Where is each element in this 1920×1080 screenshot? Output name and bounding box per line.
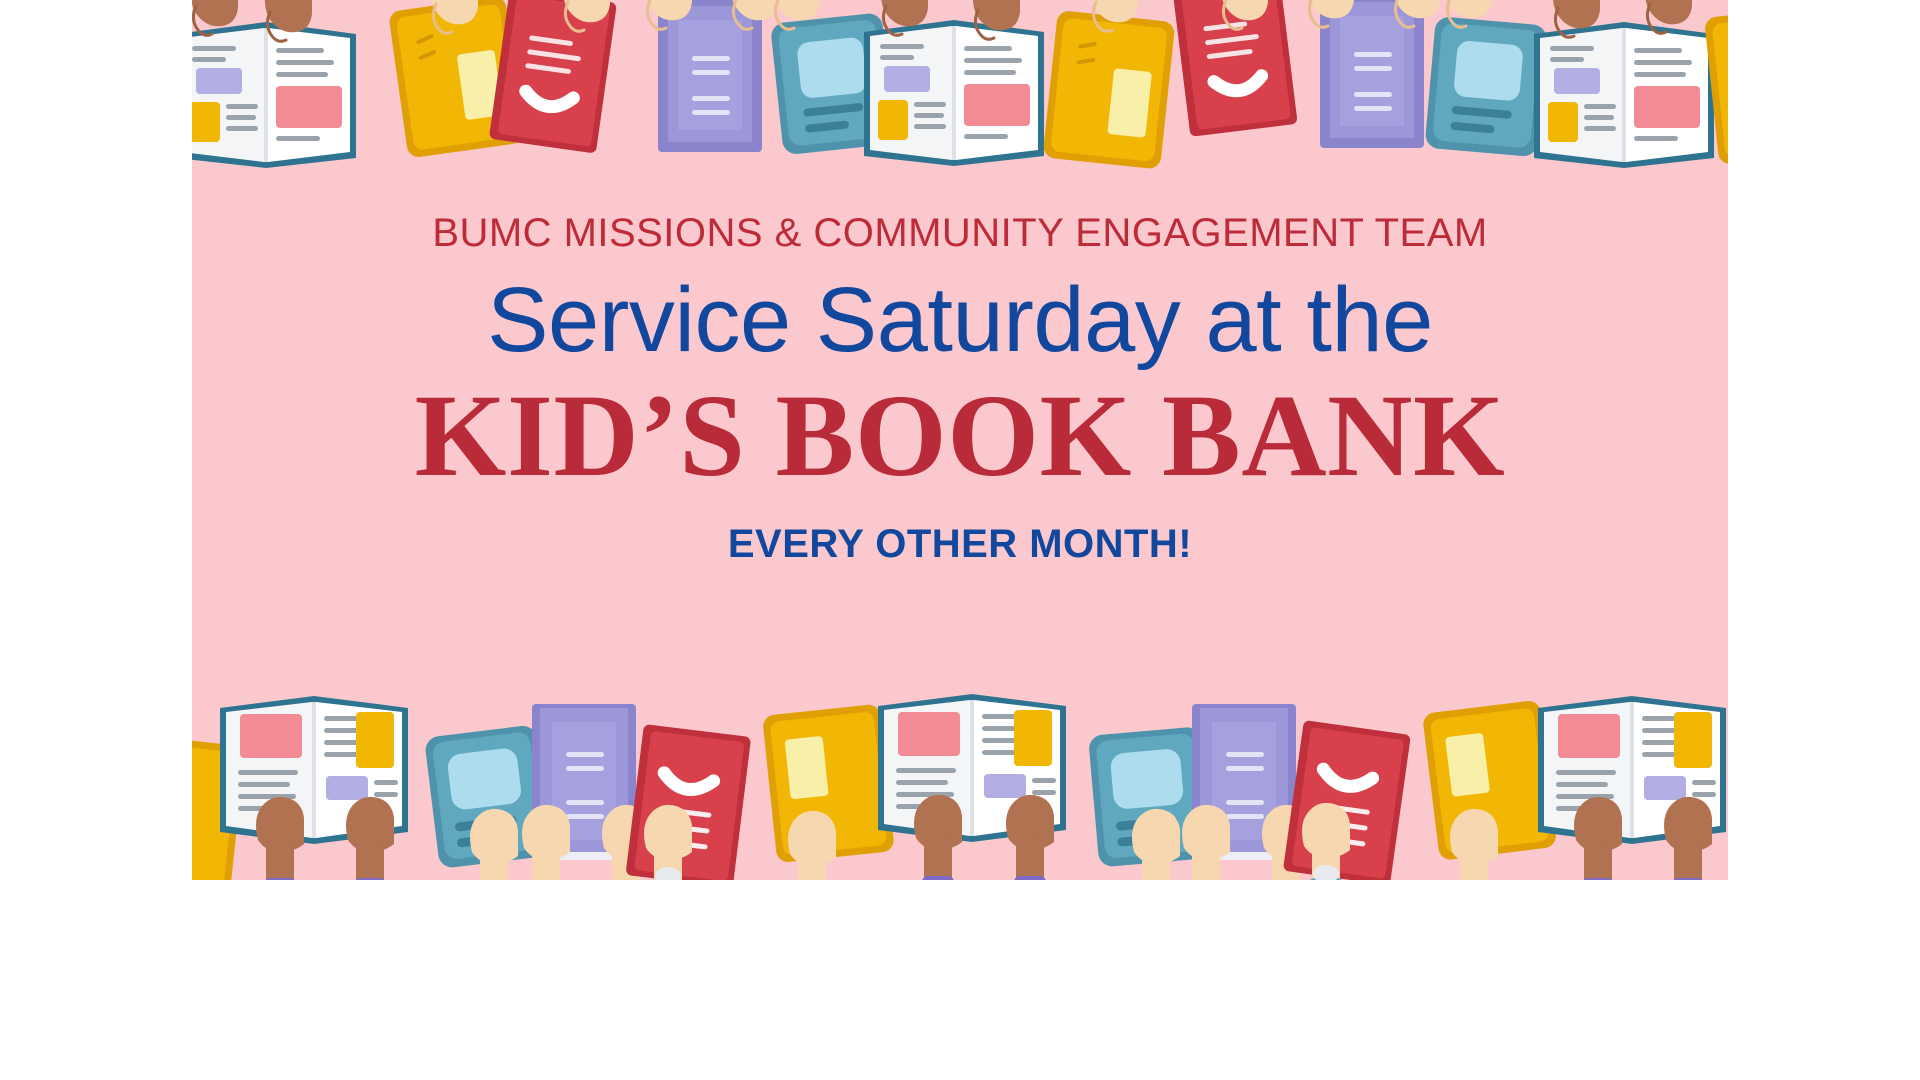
motif-yellow-book-edge bbox=[1704, 6, 1728, 166]
motif-hand-yellow bbox=[431, 0, 478, 33]
motif-hands-purple bbox=[645, 0, 778, 29]
motif-red-book bbox=[489, 0, 617, 154]
motif-hand-yellow bbox=[788, 811, 836, 880]
motif-hand-red bbox=[644, 805, 692, 880]
motif-yellow-book bbox=[192, 734, 245, 880]
motif-hands-purple bbox=[1182, 805, 1310, 880]
motif-hands-purple bbox=[522, 805, 650, 880]
motif-blue-book bbox=[770, 12, 895, 155]
motif-blue-book bbox=[1424, 16, 1547, 157]
motif-hand-red bbox=[1221, 0, 1268, 29]
motif-open-book bbox=[1538, 696, 1726, 880]
headline-text: Service Saturday at the bbox=[487, 272, 1433, 370]
bottom-border-illustration bbox=[192, 690, 1728, 880]
motif-hand-yellow bbox=[1450, 809, 1498, 880]
subline-text: EVERY OTHER MONTH! bbox=[728, 522, 1192, 566]
motif-hand-blue bbox=[1132, 809, 1180, 880]
motif-yellow-book bbox=[762, 704, 895, 864]
motif-hand-blue bbox=[470, 809, 518, 880]
motif-hand-blue bbox=[1445, 0, 1492, 27]
poster-text-block: BUMC MISSIONS & COMMUNITY ENGAGEMENT TEA… bbox=[192, 170, 1728, 690]
motif-yellow-book bbox=[1422, 700, 1557, 861]
motif-open-book bbox=[878, 694, 1066, 880]
eyebrow-text: BUMC MISSIONS & COMMUNITY ENGAGEMENT TEA… bbox=[432, 212, 1487, 254]
motif-hands-purple bbox=[1307, 0, 1440, 27]
motif-red-book bbox=[1172, 0, 1298, 137]
motif-yellow-book bbox=[388, 0, 525, 159]
motif-red-book bbox=[1283, 720, 1411, 880]
motif-open-book bbox=[192, 0, 356, 168]
motif-purple-book bbox=[1320, 0, 1424, 148]
motif-open-book bbox=[220, 696, 408, 880]
motif-blue-book bbox=[424, 724, 551, 869]
top-book-border bbox=[192, 0, 1728, 170]
motif-hand-red bbox=[563, 0, 610, 31]
poster-canvas: BUMC MISSIONS & COMMUNITY ENGAGEMENT TEA… bbox=[192, 0, 1728, 880]
motif-hand-yellow bbox=[1091, 0, 1138, 31]
motif-purple-book bbox=[1192, 704, 1296, 860]
title-text: KID’S BOOK BANK bbox=[415, 376, 1506, 496]
top-border-illustration bbox=[192, 0, 1728, 170]
motif-hand-red bbox=[1302, 803, 1350, 880]
motif-yellow-book bbox=[1043, 10, 1176, 170]
bottom-book-border bbox=[192, 690, 1728, 880]
motif-open-book bbox=[1534, 0, 1714, 168]
motif-hand-blue bbox=[773, 0, 820, 29]
motif-purple-book bbox=[658, 0, 762, 152]
motif-blue-book bbox=[1088, 726, 1211, 867]
motif-red-book bbox=[625, 724, 751, 880]
motif-open-book bbox=[864, 0, 1044, 166]
motif-purple-book bbox=[532, 704, 636, 860]
